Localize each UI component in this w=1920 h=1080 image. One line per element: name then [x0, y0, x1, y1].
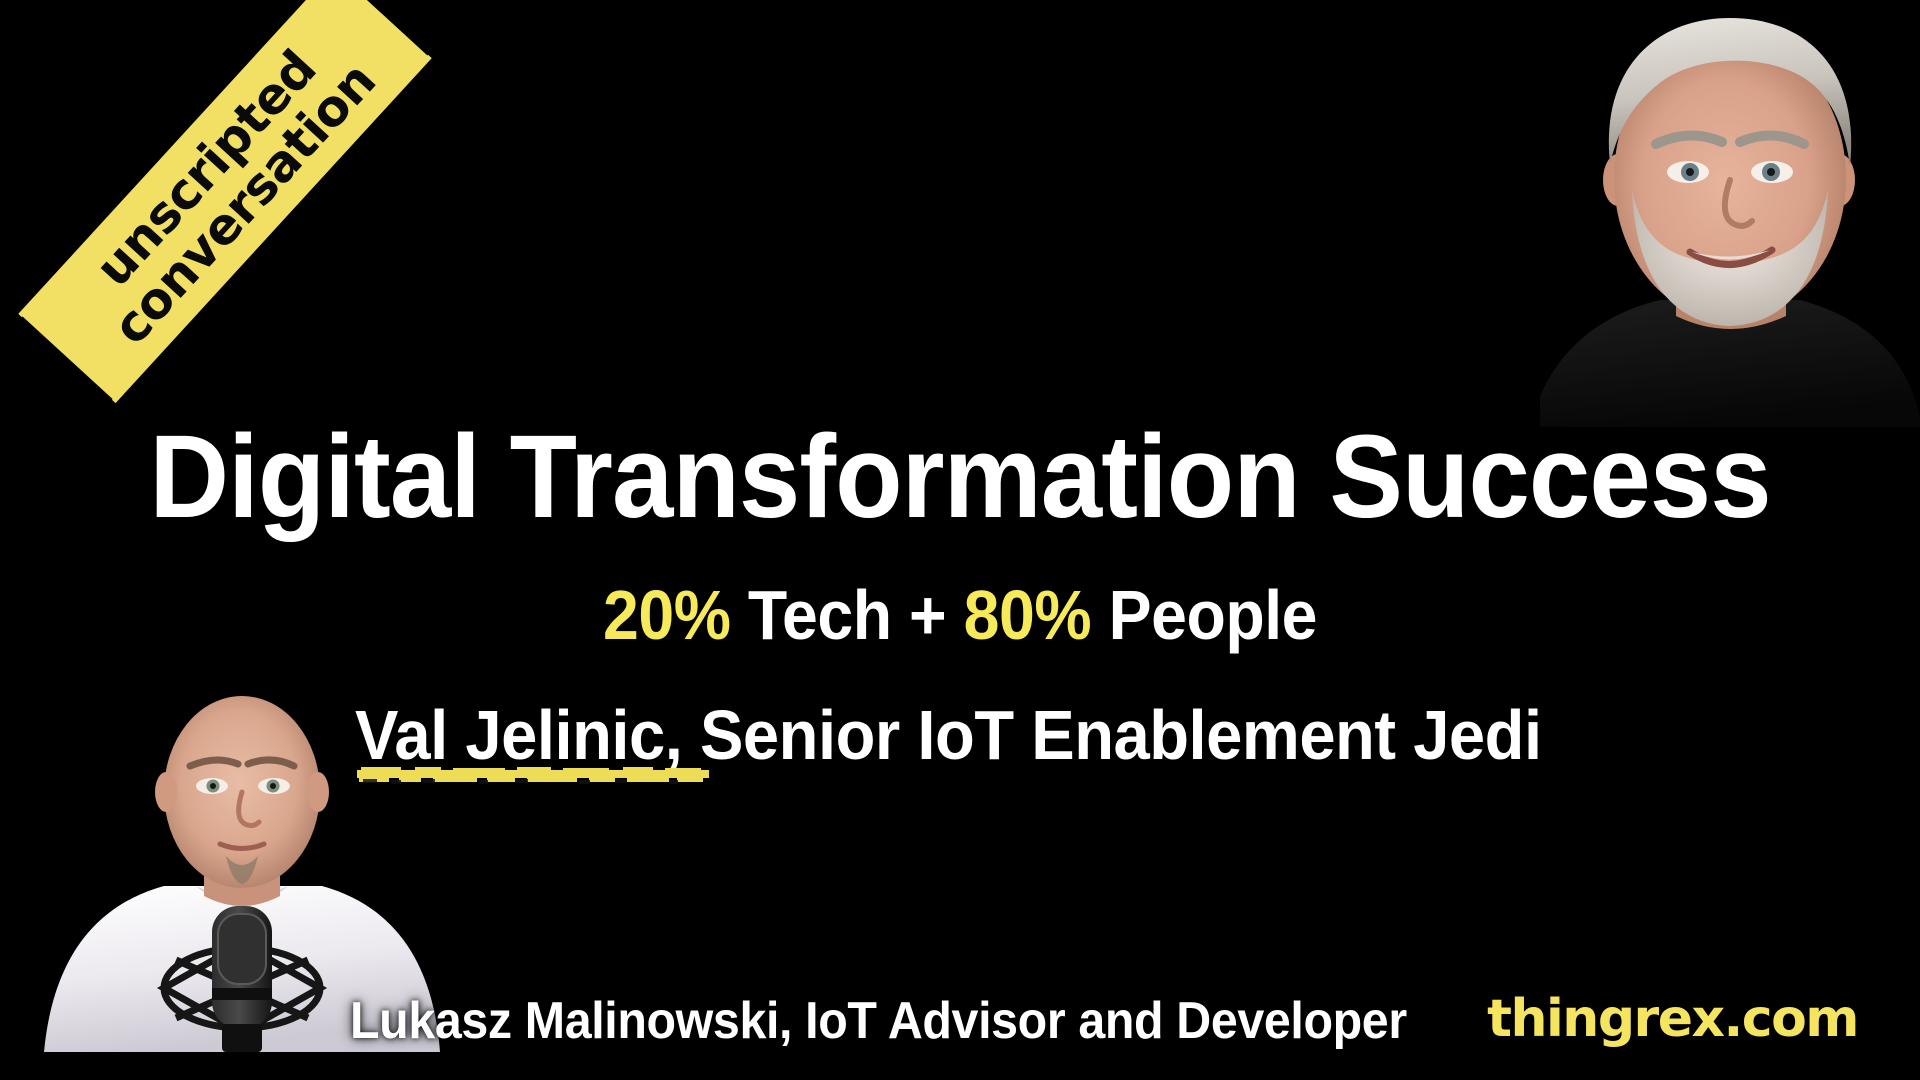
tagline-people-percent: 80%: [964, 576, 1092, 654]
guest-photo: [1540, 0, 1920, 427]
brush-underline-icon: [357, 766, 709, 786]
page-title: Digital Transformation Success: [62, 418, 1857, 536]
tagline-people-label: People: [1091, 576, 1317, 654]
brand-url[interactable]: thingrex.com: [1487, 993, 1858, 1045]
host-credit: Lukasz Malinowski, IoT Advisor and Devel…: [350, 995, 1407, 1047]
tagline: 20% Tech + 80% People: [77, 580, 1843, 650]
unscripted-conversation-badge: unscripted conversation: [0, 0, 492, 458]
speaker-block: Val Jelinic, Senior IoT Enablement Jedi: [355, 700, 1631, 810]
badge-text: unscripted conversation: [23, 0, 427, 398]
guest-photo-image: [1540, 0, 1920, 427]
speaker-name-and-role: Val Jelinic, Senior IoT Enablement Jedi: [355, 700, 1542, 770]
presentation-slide: unscripted conversation Digital Transfor…: [0, 0, 1920, 1080]
tagline-tech-label: Tech +: [731, 576, 964, 654]
tagline-tech-percent: 20%: [603, 576, 731, 654]
